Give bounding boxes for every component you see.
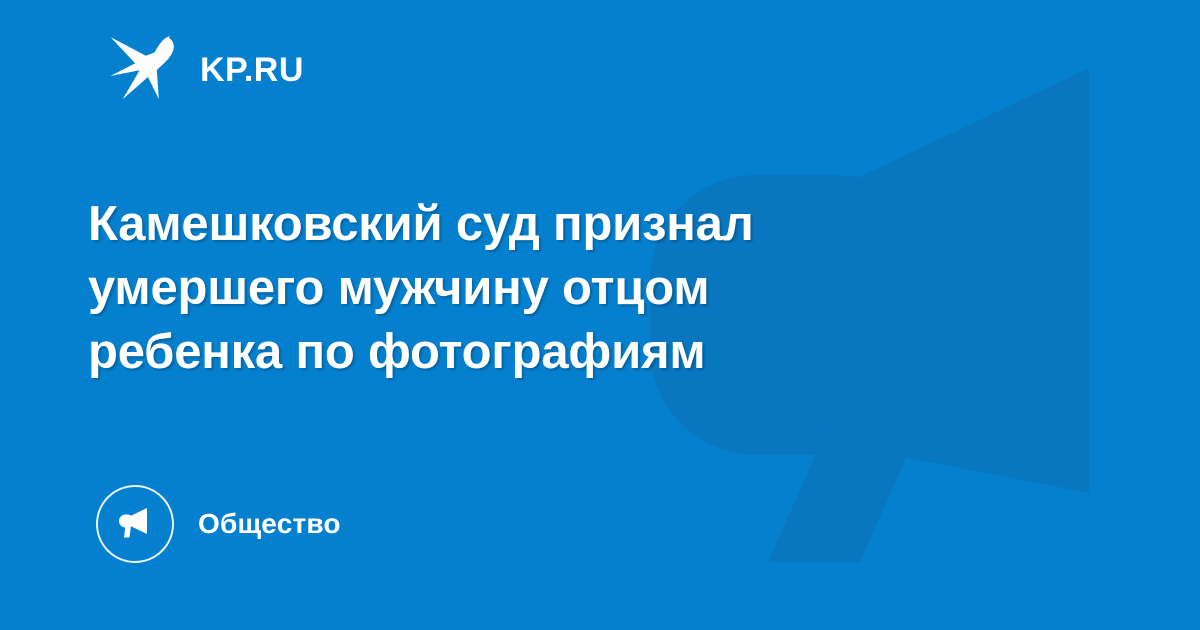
headline-line-3: ребенка по фотографиям [88, 320, 968, 384]
category-label: Общество [198, 510, 341, 538]
megaphone-icon [96, 485, 174, 563]
page-title: Камешковский суд признал умершего мужчин… [88, 192, 968, 385]
headline-line-2: умершего мужчину отцом [88, 256, 968, 320]
site-header: KP.RU [108, 34, 304, 106]
brand-wordmark[interactable]: KP.RU [200, 53, 304, 87]
headline-line-1: Камешковский суд признал [88, 192, 968, 256]
social-share-card: KP.RU Камешковский суд признал умершего … [0, 0, 1200, 630]
category-badge[interactable]: Общество [96, 485, 341, 563]
swallow-bird-icon[interactable] [108, 34, 182, 106]
